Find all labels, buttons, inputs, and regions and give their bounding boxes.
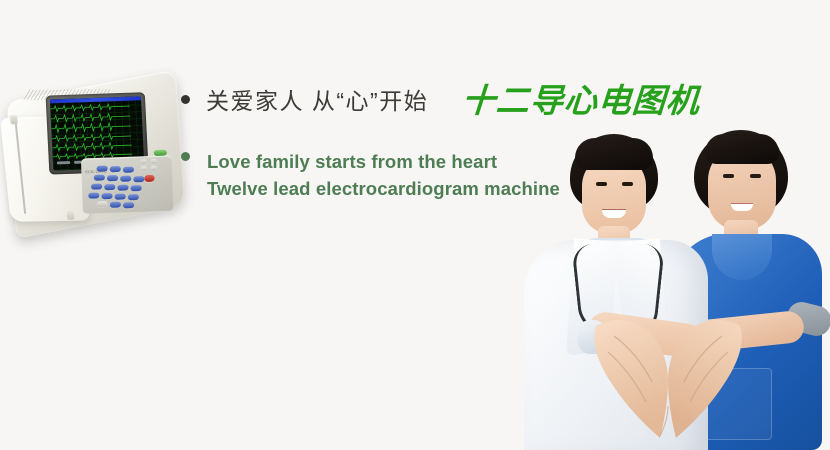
- keypad-button[interactable]: [91, 183, 102, 189]
- doctor-eye-left: [596, 182, 607, 186]
- ecg-machine-photo: ECG-1200G: [0, 52, 205, 257]
- device-lid-tab-top: [10, 115, 18, 124]
- keypad-button[interactable]: [150, 166, 157, 171]
- keypad-button[interactable]: [123, 202, 134, 208]
- keypad-button[interactable]: [128, 194, 139, 200]
- keypad-button[interactable]: [150, 159, 157, 164]
- keypad-button[interactable]: [140, 166, 147, 171]
- bullet-point-en: [181, 152, 190, 161]
- device-lid-seam: [15, 123, 26, 213]
- keypad-button[interactable]: [104, 184, 115, 190]
- heart-hands-icon: [590, 310, 746, 444]
- ecg-waveform-traces: [50, 100, 144, 163]
- keypad-button[interactable]: [110, 202, 121, 208]
- headline-chinese: 关爱家人 从“心”开始: [206, 86, 428, 116]
- medical-staff-photo: [512, 128, 830, 450]
- keypad-button[interactable]: [101, 193, 112, 199]
- keypad-button[interactable]: [88, 192, 99, 198]
- heart-hands-gesture: [590, 310, 746, 444]
- subline-1: Love family starts from the heart: [207, 148, 560, 175]
- bullet-point-cn: [181, 95, 190, 104]
- keypad-button[interactable]: [130, 185, 141, 191]
- subline-2: Twelve lead electrocardiogram machine: [207, 175, 560, 202]
- nurse-eye-left: [723, 174, 734, 178]
- keypad-button[interactable]: [117, 185, 128, 191]
- keypad-button[interactable]: [110, 166, 121, 172]
- doctor-eye-right: [622, 182, 633, 186]
- nurse-eye-right: [750, 174, 761, 178]
- keypad-button[interactable]: [96, 165, 107, 171]
- promo-banner: ECG-1200G 关爱家人: [0, 0, 830, 450]
- device-lid-tab-bottom: [67, 211, 75, 220]
- keypad-button[interactable]: [97, 201, 108, 207]
- subline-block: Love family starts from the heart Twelve…: [207, 148, 560, 202]
- nurse-mouth: [731, 204, 753, 211]
- keypad-button[interactable]: [94, 174, 105, 180]
- keypad-start-button[interactable]: [154, 150, 167, 156]
- keypad-button[interactable]: [107, 175, 118, 181]
- nurse-fringe: [705, 134, 779, 164]
- doctor-fringe: [575, 138, 653, 170]
- product-name-chinese: 十二导心电图机: [461, 82, 702, 120]
- keypad-button[interactable]: [123, 167, 134, 173]
- keypad-stop-button[interactable]: [144, 175, 154, 182]
- keypad-button[interactable]: [120, 176, 131, 182]
- device-keypad[interactable]: ECG-1200G: [81, 155, 174, 213]
- keypad-button[interactable]: [133, 176, 144, 182]
- keypad-button[interactable]: [115, 194, 126, 200]
- keypad-button[interactable]: [140, 159, 147, 164]
